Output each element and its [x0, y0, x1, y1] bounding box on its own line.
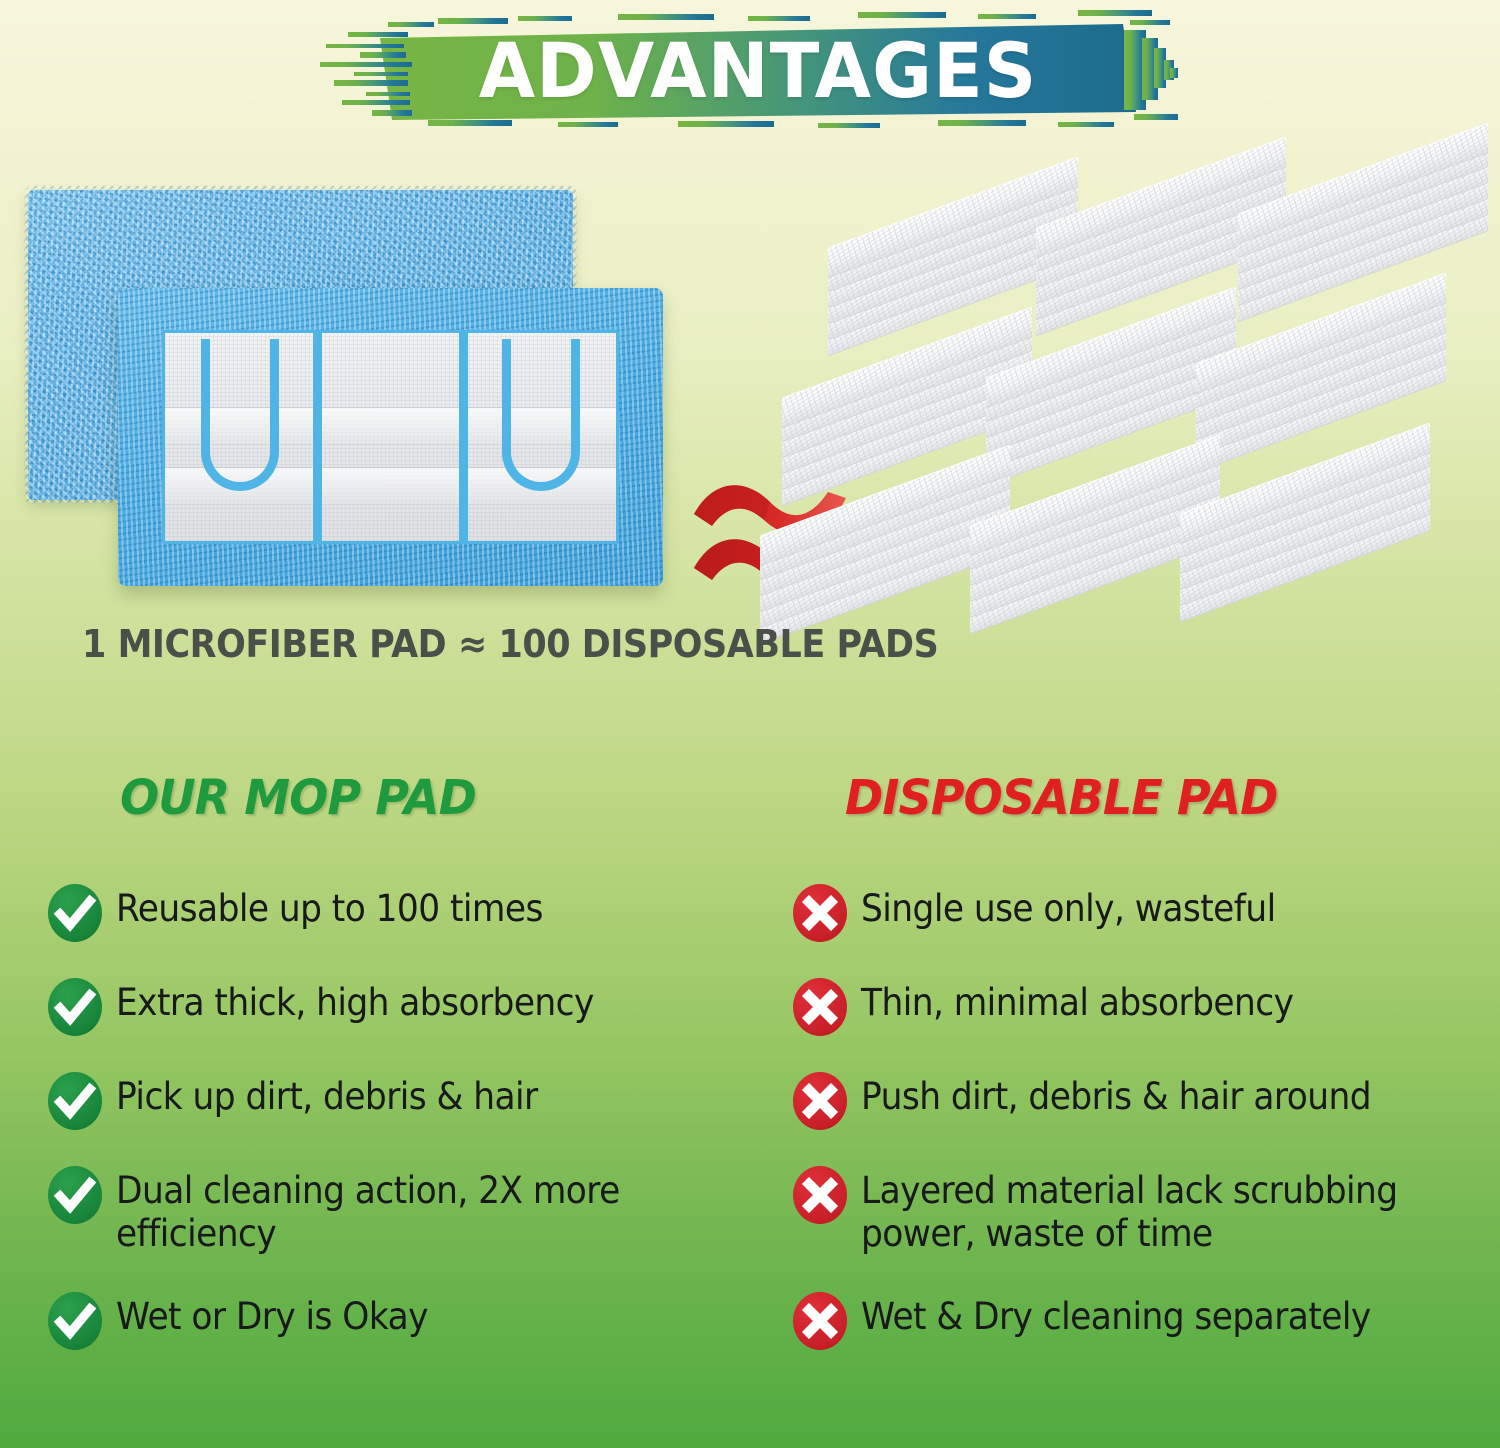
microfiber-pad-mesh-backing	[162, 330, 619, 544]
equivalence-caption: 1 MICROFIBER PAD ≈ 100 DISPOSABLE PADS	[82, 622, 938, 666]
disposable-pad-stacks	[818, 160, 1490, 620]
list-item: Wet & Dry cleaning separately	[793, 1296, 1483, 1350]
cross-icon	[793, 1292, 847, 1350]
list-item: Reusable up to 100 times	[48, 888, 748, 942]
infographic-page: ADVANTAGES	[0, 0, 1500, 1448]
feature-text: Push dirt, debris & hair around	[861, 1076, 1371, 1119]
list-item: Dual cleaning action, 2X more efficiency	[48, 1170, 748, 1256]
cross-icon	[793, 1166, 847, 1224]
mesh-divider	[313, 333, 322, 541]
feature-text: Wet or Dry is Okay	[116, 1296, 428, 1339]
column-heading-disposable-pad: DISPOSABLE PAD	[845, 770, 1457, 826]
microfiber-pad-front	[118, 288, 663, 586]
list-item: Wet or Dry is Okay	[48, 1296, 748, 1350]
column-heading-our-mop-pad: OUR MOP PAD	[120, 770, 723, 826]
feature-list-disposable-pad: Single use only, wasteful Thin, minimal …	[793, 888, 1483, 1350]
feature-text: Extra thick, high absorbency	[116, 982, 594, 1025]
feature-text: Pick up dirt, debris & hair	[116, 1076, 538, 1119]
comparison-section: OUR MOP PAD Reusable up to 100 times Ext…	[0, 770, 1500, 1430]
mesh-divider	[459, 333, 468, 541]
check-icon	[48, 884, 102, 942]
cross-icon	[793, 884, 847, 942]
page-title: ADVANTAGES	[336, 8, 1181, 132]
list-item: Thin, minimal absorbency	[793, 982, 1483, 1036]
list-item: Extra thick, high absorbency	[48, 982, 748, 1036]
pad-pocket-strap	[502, 339, 580, 491]
hero-product-imagery	[0, 150, 1500, 620]
pad-pocket-strap	[201, 339, 279, 491]
check-icon	[48, 1072, 102, 1130]
check-icon	[48, 978, 102, 1036]
cross-icon	[793, 978, 847, 1036]
header-banner: ADVANTAGES	[318, 8, 1198, 132]
feature-text: Dual cleaning action, 2X more efficiency	[116, 1170, 674, 1256]
list-item: Layered material lack scrubbing power, w…	[793, 1170, 1483, 1256]
comparison-column-disposable-pad: DISPOSABLE PAD Single use only, wasteful…	[793, 770, 1483, 1350]
comparison-column-our-mop-pad: OUR MOP PAD Reusable up to 100 times Ext…	[48, 770, 748, 1350]
list-item: Single use only, wasteful	[793, 888, 1483, 942]
check-icon	[48, 1292, 102, 1350]
feature-text: Wet & Dry cleaning separately	[861, 1296, 1371, 1339]
cross-icon	[793, 1072, 847, 1130]
feature-text: Layered material lack scrubbing power, w…	[861, 1170, 1439, 1256]
list-item: Pick up dirt, debris & hair	[48, 1076, 748, 1130]
check-icon	[48, 1166, 102, 1224]
feature-text: Thin, minimal absorbency	[861, 982, 1293, 1025]
feature-list-our-mop-pad: Reusable up to 100 times Extra thick, hi…	[48, 888, 748, 1350]
feature-text: Reusable up to 100 times	[116, 888, 543, 931]
list-item: Push dirt, debris & hair around	[793, 1076, 1483, 1130]
feature-text: Single use only, wasteful	[861, 888, 1276, 931]
